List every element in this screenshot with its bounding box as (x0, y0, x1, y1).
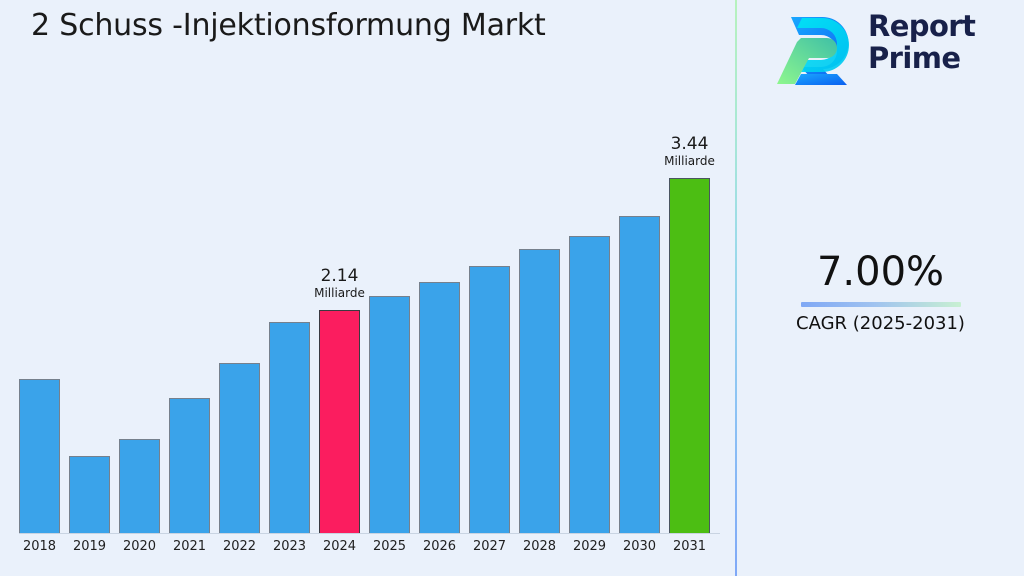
cagr-value: 7.00% (737, 250, 1024, 294)
x-tick-2026: 2026 (413, 539, 466, 554)
x-tick-2020: 2020 (113, 539, 166, 554)
bar-2026[interactable] (419, 282, 460, 533)
x-tick-2025: 2025 (363, 539, 416, 554)
plot-area: 2018201920202021202220232.14Milliarde202… (0, 0, 736, 576)
bar-2025[interactable] (369, 296, 410, 533)
x-tick-2022: 2022 (213, 539, 266, 554)
bar-2022[interactable] (219, 363, 260, 533)
x-tick-2031: 2031 (663, 539, 716, 554)
bar-label-unit-2031: Milliarde (645, 155, 735, 168)
brand-logo-text: Report Prime (868, 10, 975, 75)
bar-2028[interactable] (519, 249, 560, 533)
x-tick-2021: 2021 (163, 539, 216, 554)
x-tick-2018: 2018 (13, 539, 66, 554)
x-tick-2019: 2019 (63, 539, 116, 554)
bar-2021[interactable] (169, 398, 210, 533)
bar-2027[interactable] (469, 266, 510, 533)
bar-2019[interactable] (69, 456, 110, 533)
x-axis-line (19, 533, 720, 534)
x-tick-2023: 2023 (263, 539, 316, 554)
cagr-divider (801, 302, 961, 307)
brand-logo-line2: Prime (868, 42, 975, 74)
bar-2030[interactable] (619, 216, 660, 533)
brand-logo-line1: Report (868, 9, 975, 43)
bar-2029[interactable] (569, 236, 610, 533)
bar-2024[interactable] (319, 310, 360, 533)
chart-panel: 2 Schuss -Injektionsformung Markt 201820… (0, 0, 736, 576)
bar-label-2024: 2.14Milliarde (295, 268, 385, 299)
summary-panel: Report Prime 7.00% CAGR (2025-2031) (737, 0, 1024, 576)
bar-2018[interactable] (19, 379, 60, 533)
bar-label-value-2024: 2.14 (295, 268, 385, 286)
bar-2031[interactable] (669, 178, 710, 533)
x-tick-2030: 2030 (613, 539, 666, 554)
cagr-block: 7.00% CAGR (2025-2031) (737, 250, 1024, 334)
chart-page: 2 Schuss -Injektionsformung Markt 201820… (0, 0, 1024, 576)
bar-label-value-2031: 3.44 (645, 136, 735, 154)
x-tick-2024: 2024 (313, 539, 366, 554)
x-tick-2029: 2029 (563, 539, 616, 554)
x-tick-2028: 2028 (513, 539, 566, 554)
cagr-caption: CAGR (2025-2031) (737, 313, 1024, 334)
bar-2023[interactable] (269, 322, 310, 533)
x-tick-2027: 2027 (463, 539, 516, 554)
bar-label-2031: 3.44Milliarde (645, 136, 735, 167)
brand-logo[interactable]: Report Prime (775, 8, 1005, 92)
report-prime-r-mark-icon (775, 12, 855, 90)
bar-2020[interactable] (119, 439, 160, 533)
